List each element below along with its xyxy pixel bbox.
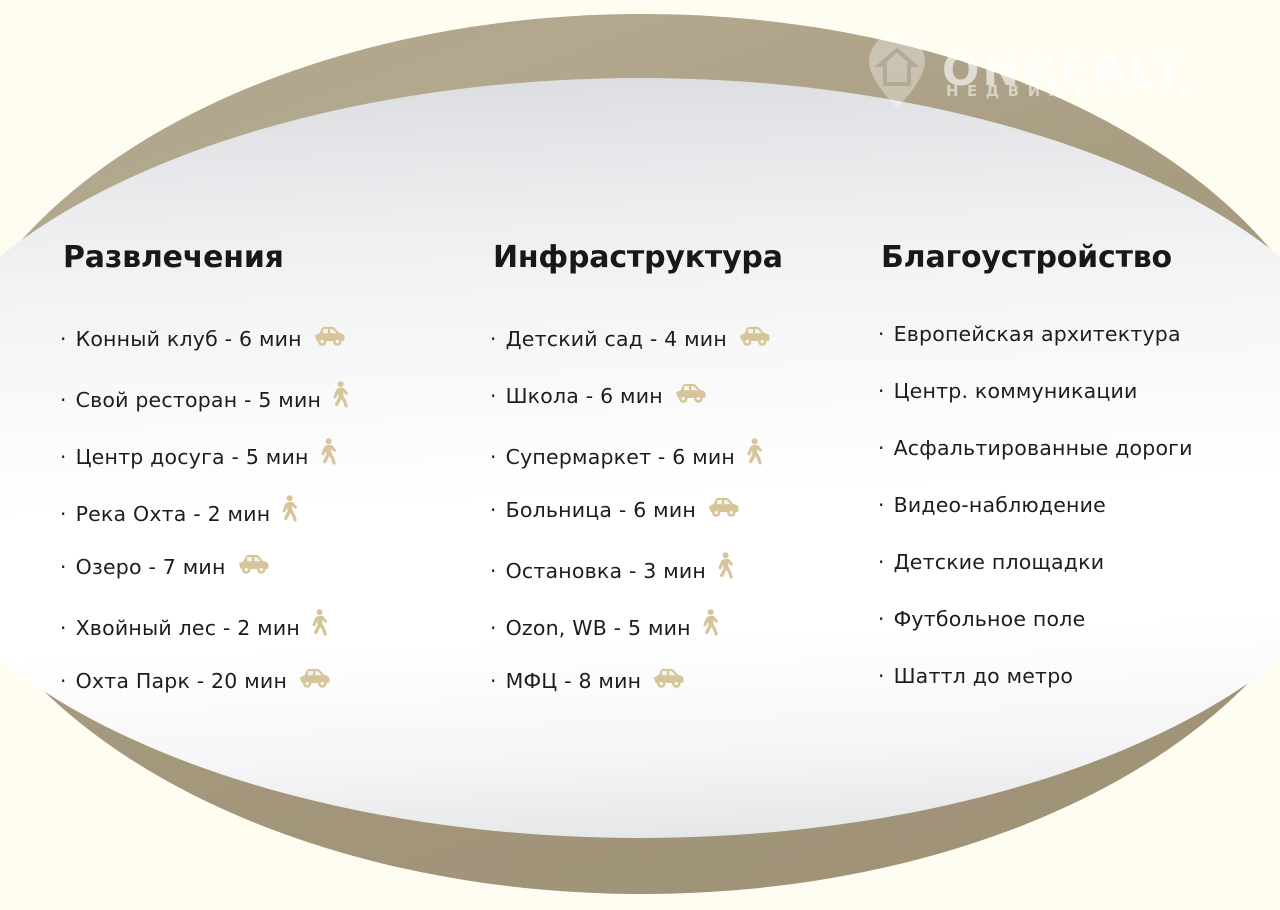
walk-icon xyxy=(716,552,733,580)
list-item-label: Футбольное поле xyxy=(894,607,1086,631)
list-item: · Центр досуга - 5 мин xyxy=(60,436,460,493)
bullet: · xyxy=(490,329,497,349)
list-item: · Хвойный лес - 2 мин xyxy=(60,607,460,664)
list-item: · Европейская архитектура xyxy=(878,322,1268,379)
bullet: · xyxy=(878,438,885,458)
list-item: · Охта Парк - 20 мин xyxy=(60,664,460,721)
walk-icon xyxy=(701,609,718,637)
car-icon xyxy=(651,666,685,690)
list-item: · Конный клуб - 6 мин xyxy=(60,322,460,379)
list-item-label: Река Охта - 2 мин xyxy=(76,502,271,526)
list-item: · Футбольное поле xyxy=(878,607,1268,664)
list-item: · Детский сад - 4 мин xyxy=(490,322,860,379)
bullet: · xyxy=(878,666,885,686)
slide-canvas: ONREALT НЕДВИЖИМОСТЬ Развлечения · Конны… xyxy=(0,0,1280,910)
list-item: · Ozon, WB - 5 мин xyxy=(490,607,860,664)
bullet: · xyxy=(490,447,497,467)
list-item: · Школа - 6 мин xyxy=(490,379,860,436)
list-item: · Остановка - 3 мин xyxy=(490,550,860,607)
walk-icon xyxy=(319,438,336,466)
bullet: · xyxy=(878,552,885,572)
list-item: · Свой ресторан - 5 мин xyxy=(60,379,460,436)
column-list: · Детский сад - 4 мин · Школа - 6 мин · … xyxy=(490,322,860,721)
list-item-label: Видео-наблюдение xyxy=(894,493,1106,517)
content-columns: Развлечения · Конный клуб - 6 мин · Свой… xyxy=(0,0,1280,910)
list-item: · Центр. коммуникации xyxy=(878,379,1268,436)
list-item: · Видео-наблюдение xyxy=(878,493,1268,550)
list-item: · Река Охта - 2 мин xyxy=(60,493,460,550)
list-item-label: Охта Парк - 20 мин xyxy=(76,669,287,693)
column-infrastructure: Инфраструктура · Детский сад - 4 мин · Ш… xyxy=(490,240,860,721)
column-list: · Европейская архитектура · Центр. комму… xyxy=(878,322,1268,721)
car-icon xyxy=(297,666,331,690)
list-item-label: Асфальтированные дороги xyxy=(894,436,1193,460)
bullet: · xyxy=(878,495,885,515)
list-item-label: Больница - 6 мин xyxy=(506,498,696,522)
list-item-label: Супермаркет - 6 мин xyxy=(506,445,735,469)
bullet: · xyxy=(490,561,497,581)
column-entertainment: Развлечения · Конный клуб - 6 мин · Свой… xyxy=(60,240,460,721)
bullet: · xyxy=(60,671,67,691)
bullet: · xyxy=(490,671,497,691)
column-title: Благоустройство xyxy=(881,240,1268,275)
list-item-label: Хвойный лес - 2 мин xyxy=(76,616,300,640)
list-item-label: Европейская архитектура xyxy=(894,322,1181,346)
bullet: · xyxy=(60,504,67,524)
list-item: · Детские площадки xyxy=(878,550,1268,607)
list-item: · МФЦ - 8 мин xyxy=(490,664,860,721)
list-item: · Асфальтированные дороги xyxy=(878,436,1268,493)
list-item-label: Центр досуга - 5 мин xyxy=(76,445,309,469)
walk-icon xyxy=(310,609,327,637)
list-item-label: Шаттл до метро xyxy=(894,664,1074,688)
bullet: · xyxy=(878,381,885,401)
list-item-label: Озеро - 7 мин xyxy=(76,555,226,579)
list-item-label: Детские площадки xyxy=(894,550,1105,574)
walk-icon xyxy=(745,438,762,466)
car-icon xyxy=(706,495,740,519)
list-item: · Шаттл до метро xyxy=(878,664,1268,721)
car-icon xyxy=(236,552,270,576)
column-list: · Конный клуб - 6 мин · Свой ресторан - … xyxy=(60,322,460,721)
column-title: Инфраструктура xyxy=(493,240,860,275)
list-item-label: МФЦ - 8 мин xyxy=(506,669,642,693)
bullet: · xyxy=(490,386,497,406)
list-item-label: Конный клуб - 6 мин xyxy=(76,327,302,351)
bullet: · xyxy=(60,557,67,577)
walk-icon xyxy=(331,381,348,409)
bullet: · xyxy=(878,609,885,629)
list-item-label: Детский сад - 4 мин xyxy=(506,327,727,351)
list-item: · Супермаркет - 6 мин xyxy=(490,436,860,493)
bullet: · xyxy=(490,500,497,520)
list-item-label: Школа - 6 мин xyxy=(506,384,663,408)
list-item-label: Остановка - 3 мин xyxy=(506,559,706,583)
list-item-label: Свой ресторан - 5 мин xyxy=(76,388,322,412)
list-item: · Больница - 6 мин xyxy=(490,493,860,550)
bullet: · xyxy=(60,390,67,410)
car-icon xyxy=(312,324,346,348)
list-item-label: Центр. коммуникации xyxy=(894,379,1138,403)
list-item: · Озеро - 7 мин xyxy=(60,550,460,607)
bullet: · xyxy=(60,618,67,638)
bullet: · xyxy=(60,447,67,467)
column-amenities: Благоустройство · Европейская архитектур… xyxy=(878,240,1268,721)
car-icon xyxy=(673,381,707,405)
bullet: · xyxy=(490,618,497,638)
walk-icon xyxy=(280,495,297,523)
car-icon xyxy=(737,324,771,348)
list-item-label: Ozon, WB - 5 мин xyxy=(506,616,691,640)
bullet: · xyxy=(878,324,885,344)
bullet: · xyxy=(60,329,67,349)
column-title: Развлечения xyxy=(63,240,460,275)
